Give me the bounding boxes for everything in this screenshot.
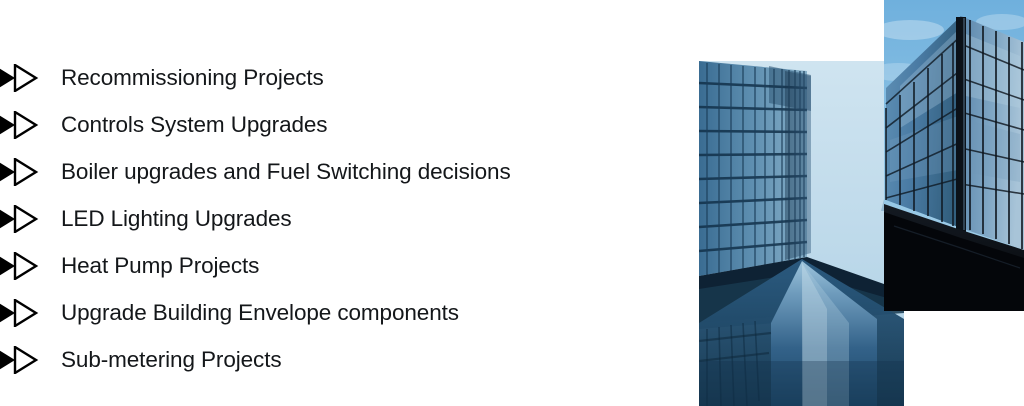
double-chevron-arrow-icon xyxy=(0,346,43,374)
glass-towers-upward-view-photo xyxy=(699,61,904,406)
glass-building-corner-photo xyxy=(884,0,1024,311)
list-item[interactable]: Controls System Upgrades xyxy=(0,101,660,148)
list-item-label: Recommissioning Projects xyxy=(61,66,324,90)
double-chevron-arrow-icon xyxy=(0,158,43,186)
list-item[interactable]: Upgrade Building Envelope components xyxy=(0,289,660,336)
list-item-label: Boiler upgrades and Fuel Switching decis… xyxy=(61,160,511,184)
slide-canvas: Recommissioning Projects Controls System… xyxy=(0,0,1024,406)
list-item-label: Heat Pump Projects xyxy=(61,254,259,278)
double-chevron-arrow-icon xyxy=(0,299,43,327)
double-chevron-arrow-icon xyxy=(0,205,43,233)
list-item[interactable]: LED Lighting Upgrades xyxy=(0,195,660,242)
double-chevron-arrow-icon xyxy=(0,64,43,92)
list-item-label: Sub-metering Projects xyxy=(61,348,282,372)
list-item-label: Controls System Upgrades xyxy=(61,113,327,137)
list-item-label: LED Lighting Upgrades xyxy=(61,207,292,231)
list-item[interactable]: Heat Pump Projects xyxy=(0,242,660,289)
list-item-label: Upgrade Building Envelope components xyxy=(61,301,459,325)
list-item[interactable]: Sub-metering Projects xyxy=(0,336,660,383)
double-chevron-arrow-icon xyxy=(0,252,43,280)
double-chevron-arrow-icon xyxy=(0,111,43,139)
bullet-list: Recommissioning Projects Controls System… xyxy=(0,54,660,383)
list-item[interactable]: Recommissioning Projects xyxy=(0,54,660,101)
list-item[interactable]: Boiler upgrades and Fuel Switching decis… xyxy=(0,148,660,195)
